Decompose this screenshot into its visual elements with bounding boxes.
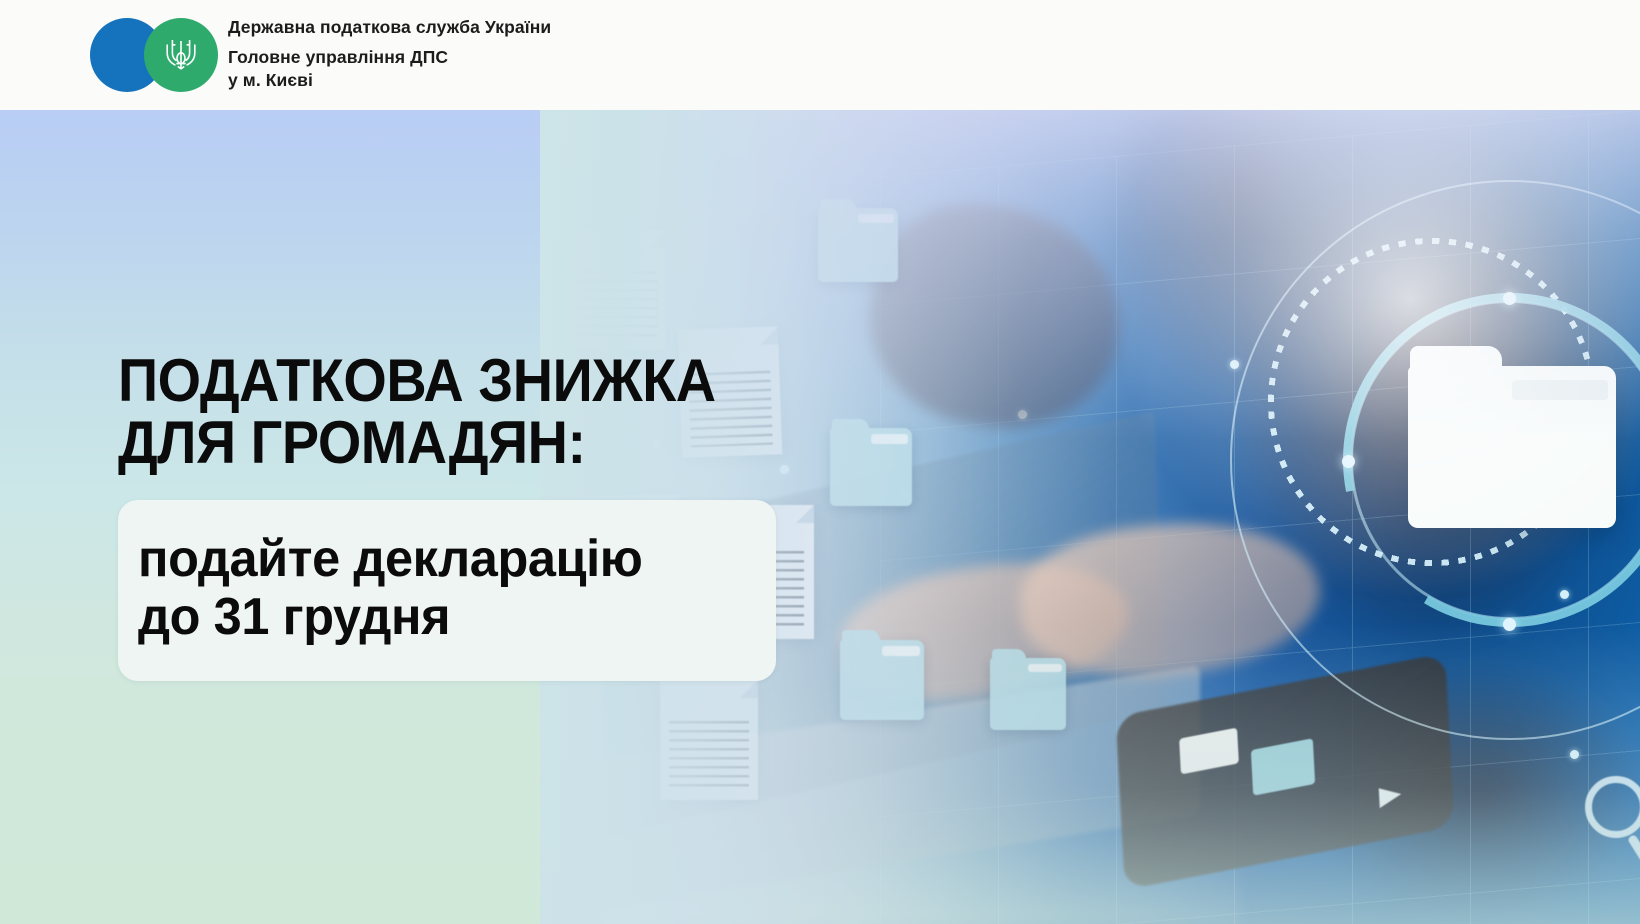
org-name-line3: у м. Києві: [228, 69, 551, 92]
header-titles: Державна податкова служба України Головн…: [228, 17, 551, 92]
banner-headline: ПОДАТКОВА ЗНИЖКА ДЛЯ ГРОМАДЯН:: [118, 350, 769, 474]
ukrainian-trident-icon: [164, 35, 198, 75]
banner-content: ПОДАТКОВА ЗНИЖКА ДЛЯ ГРОМАДЯН: подайте д…: [118, 350, 818, 681]
org-name-line1: Державна податкова служба України: [228, 17, 551, 39]
callout-text: подайте декларацію до 31 грудня: [138, 530, 728, 646]
poster: Державна податкова служба України Головн…: [0, 0, 1640, 924]
site-header: Державна податкова служба України Головн…: [0, 0, 1640, 110]
callout-box: подайте декларацію до 31 грудня: [118, 500, 776, 680]
org-name-line2: Головне управління ДПС: [228, 46, 551, 69]
logo-green-circle: [144, 18, 218, 92]
dps-logo[interactable]: [90, 18, 218, 92]
banner-canvas: ПОДАТКОВА ЗНИЖКА ДЛЯ ГРОМАДЯН: подайте д…: [0, 110, 1640, 924]
